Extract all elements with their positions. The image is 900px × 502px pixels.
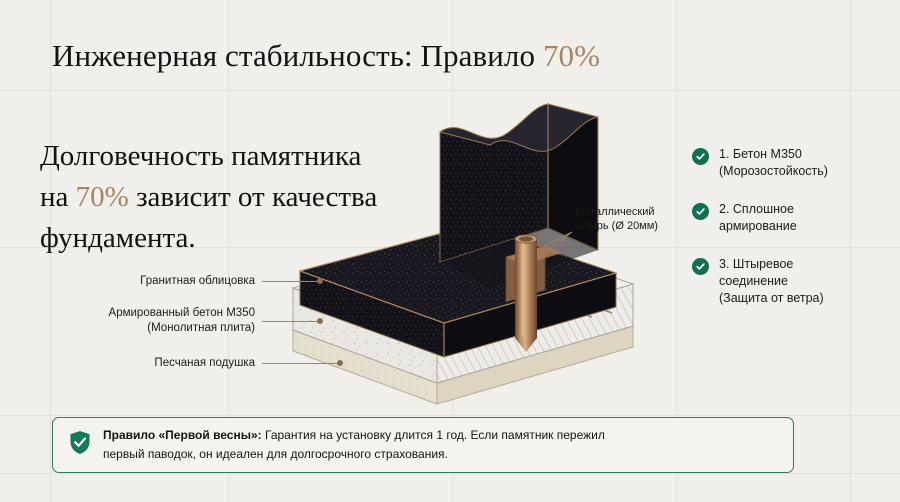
diagram-label-line-1: Песчаная подушка	[154, 357, 255, 369]
list-item-line-2: армирование	[719, 219, 797, 233]
callout-text: Правило «Первой весны»: Гарантия на уста…	[103, 426, 605, 464]
list-item[interactable]: 3. Штыревое соединение (Защита от ветра)	[692, 256, 872, 307]
lead-line-3: фундамента.	[40, 222, 196, 254]
check-circle-icon	[692, 258, 709, 275]
check-circle-icon	[692, 148, 709, 165]
list-item-text: 3. Штыревое соединение (Защита от ветра)	[719, 256, 824, 307]
list-item[interactable]: 1. Бетон М350 (Морозостойкость)	[692, 146, 872, 180]
list-item-line-2: соединение	[719, 274, 788, 288]
list-item-line-3: (Защита от ветра)	[719, 291, 824, 305]
shield-check-icon	[69, 430, 91, 460]
first-spring-rule-callout: Правило «Первой весны»: Гарантия на уста…	[52, 417, 794, 473]
callout-text-line-2: первый паводок, он идеален для долгосроч…	[103, 447, 448, 461]
diagram-label-reinforced-concrete: Армированный бетон М350 (Монолитная плит…	[10, 306, 255, 336]
leader-line-metal-pin	[500, 200, 590, 270]
lead-line-2-b: зависит от качества	[129, 181, 377, 213]
lead-line-1: Долговечность памятника	[40, 140, 361, 172]
diagram-label-line-1: Армированный бетон М350	[109, 307, 255, 319]
list-item-text: 1. Бетон М350 (Морозостойкость)	[719, 146, 828, 180]
diagram-label-line-2: (Монолитная плита)	[147, 322, 255, 334]
lead-paragraph: Долговечность памятника на 70% зависит о…	[40, 136, 440, 259]
leader-line	[262, 321, 320, 322]
list-item[interactable]: 2. Сплошное армирование	[692, 201, 872, 235]
diagram-label-sand-bed: Песчаная подушка	[10, 356, 255, 371]
list-item-line-1: 2. Сплошное	[719, 202, 794, 216]
page-title-main: Инженерная стабильность: Правило	[52, 38, 543, 73]
leader-dot	[317, 318, 323, 324]
list-item-line-2: (Морозостойкость)	[719, 164, 828, 178]
callout-text-bold: Правило «Первой весны»:	[103, 428, 262, 442]
diagram-label-line-1: Гранитная облицовка	[140, 275, 255, 287]
lead-line-2-a: на	[40, 181, 76, 213]
leader-line	[262, 363, 340, 364]
leader-dot	[317, 278, 323, 284]
check-circle-icon	[692, 203, 709, 220]
diagram-label-granite-cladding: Гранитная облицовка	[10, 274, 255, 289]
benefits-checklist: 1. Бетон М350 (Морозостойкость) 2. Сплош…	[692, 146, 872, 328]
page-title: Инженерная стабильность: Правило 70%	[52, 38, 600, 74]
page-title-accent: 70%	[543, 38, 600, 73]
list-item-text: 2. Сплошное армирование	[719, 201, 797, 235]
callout-text-line-1: Гарантия на установку длится 1 год. Если…	[262, 428, 605, 442]
list-item-line-1: 1. Бетон М350	[719, 147, 802, 161]
slide-canvas: Инженерная стабильность: Правило 70% Дол…	[0, 0, 900, 502]
lead-accent-percent: 70%	[76, 181, 129, 213]
list-item-line-1: 3. Штыревое	[719, 257, 793, 271]
leader-dot	[337, 360, 343, 366]
leader-line	[262, 281, 320, 282]
